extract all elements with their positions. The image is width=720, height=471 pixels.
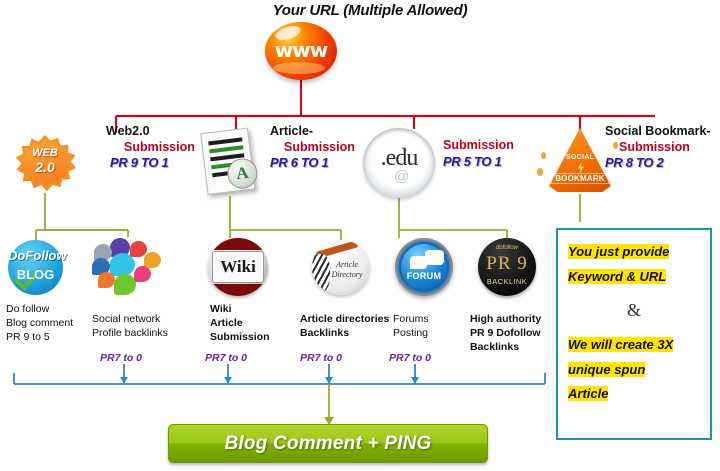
article-directory-label: Article Directory	[326, 260, 368, 280]
banner-label: Blog Comment + PING	[224, 433, 431, 455]
article-directory-icon: Article Directory	[312, 240, 370, 295]
info-box: You just provide Keyword & URL & We will…	[556, 228, 712, 440]
info-line2-wrap: Keyword & URL	[568, 267, 700, 287]
info-line5: Article	[568, 386, 608, 401]
social-bookmark-bottom-label: BOOKMARK	[549, 173, 611, 184]
info-line3-wrap: We will create 3X	[568, 335, 700, 355]
web20-badge-top: WEB	[32, 147, 58, 159]
service-article-line1: Article-	[270, 124, 375, 140]
at-symbol-icon: @	[394, 168, 409, 185]
pr7-label-directory: PR7 to 0	[300, 352, 342, 364]
speech-bubble-icon	[425, 250, 444, 265]
article-directory-top: Article	[336, 260, 358, 269]
pr7-label-social: PR7 to 0	[100, 352, 142, 364]
www-label: www	[265, 38, 337, 62]
article-document-icon: A	[196, 127, 264, 200]
pr9-dofollow-label: dofollow	[478, 245, 536, 251]
channel-caption-dofollow: Do follow Blog comment PR 9 to 5	[6, 302, 98, 345]
forum-inner: FORUM	[401, 244, 447, 290]
doc-line	[209, 145, 243, 153]
blog-comment-ping-banner: Blog Comment + PING	[168, 424, 488, 463]
web20-badge-bottom: 2.0	[14, 160, 76, 175]
service-bookmark-line1: Social Bookmark-	[605, 124, 720, 140]
channel-caption-pr9: High authority PR 9 Dofollow Backlinks	[470, 312, 560, 355]
service-article-line2: Submission	[270, 140, 375, 156]
social-network-bubbles-icon	[92, 238, 164, 296]
pr9-backlink-icon: dofollow PR 9 BACKLINK	[478, 238, 536, 296]
forum-label: FORUM	[401, 271, 447, 281]
social-bookmark-icon: SOCIAL BOOKMARK	[549, 128, 611, 194]
channel-caption-forums: Forums Posting	[393, 312, 463, 340]
service-article-text: Article- Submission PR 6 TO 1	[270, 124, 375, 172]
channel-caption-social: Social network Profile backlinks	[92, 312, 188, 340]
forum-icon: FORUM	[395, 238, 453, 296]
bubble	[110, 253, 135, 276]
wiki-icon: Wiki	[208, 238, 268, 296]
info-line2: Keyword & URL	[568, 269, 666, 284]
dofollow-blog-icon: DoFollow BLOG	[8, 240, 63, 295]
lightning-bolt-icon	[578, 162, 584, 173]
pr7-label-forums: PR7 to 0	[389, 352, 431, 364]
wiki-bottom-band	[208, 284, 268, 296]
www-globe-icon: www	[265, 22, 337, 80]
info-line4: unique spun	[568, 362, 645, 377]
spark	[541, 152, 546, 159]
pr9-main-label: PR 9	[478, 253, 536, 275]
social-bookmark-top-label: SOCIAL	[549, 154, 611, 161]
page-title: Your URL (Multiple Allowed)	[205, 2, 535, 19]
web20-badge-label: WEB 2.0	[14, 148, 76, 174]
spark	[537, 168, 543, 176]
pr7-label-wiki: PR7 to 0	[205, 352, 247, 364]
info-line5-wrap: Article	[568, 384, 700, 404]
bubble	[144, 252, 161, 268]
dofollow-bottom-label: BLOG	[8, 267, 63, 282]
channel-caption-directory: Article directories Backlinks	[300, 312, 404, 340]
channel-caption-wiki: Wiki Article Submission	[210, 302, 280, 345]
bubble	[114, 274, 136, 295]
info-line1-wrap: You just provide	[568, 242, 700, 262]
diagram-canvas: Your URL (Multiple Allowed) www WEB 2.0 …	[0, 0, 720, 471]
info-line1: You just provide	[568, 244, 669, 259]
service-bookmark-text: Social Bookmark- Submission PR 8 TO 2	[605, 124, 720, 172]
service-article-line3: PR 6 TO 1	[270, 155, 375, 171]
service-bookmark-line2: Submission	[605, 140, 720, 156]
bubble	[134, 266, 151, 282]
wiki-top-band	[208, 238, 268, 250]
info-ampersand: &	[568, 300, 700, 321]
info-line4-wrap: unique spun	[568, 360, 700, 380]
article-directory-bottom: Directory	[332, 270, 363, 279]
pr9-backlink-label: BACKLINK	[478, 277, 536, 286]
info-line3: We will create 3X	[568, 337, 673, 352]
info-box-body: You just provide Keyword & URL & We will…	[558, 230, 710, 404]
globe-lower-glow	[273, 62, 325, 74]
edu-circle-icon: .edu @	[363, 128, 435, 198]
wiki-label: Wiki	[212, 251, 264, 283]
doc-line	[208, 137, 242, 145]
bubble	[98, 272, 115, 288]
service-bookmark-line3: PR 8 TO 2	[605, 155, 720, 171]
dofollow-top-label: DoFollow	[8, 248, 63, 263]
